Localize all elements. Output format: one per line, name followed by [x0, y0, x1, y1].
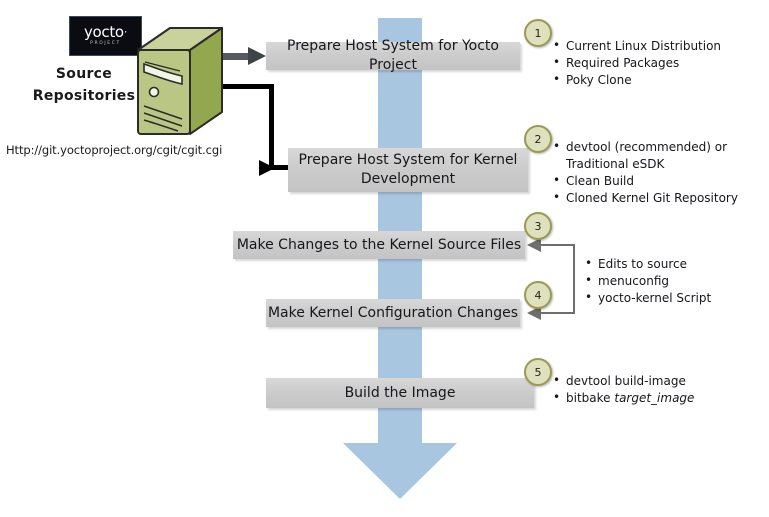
list-item: yocto-kernel Script: [585, 290, 765, 307]
yocto-logo-wordmark: yocto·: [84, 25, 127, 40]
list-item: Cloned Kernel Git Repository: [553, 190, 765, 207]
connector-bracket-to-step4: [540, 312, 575, 314]
list-item: Poky Clone: [553, 72, 765, 89]
process-box-step5-label: Build the Image: [345, 384, 456, 403]
connector-bracket-vertical: [573, 245, 575, 313]
bitbake-command-target: target_image: [614, 391, 694, 405]
list-item: bitbake target_image: [553, 390, 765, 407]
step2-bullet-list: devtool (recommended) or Traditional eSD…: [553, 139, 765, 207]
yocto-logo-text: yocto: [84, 23, 124, 41]
process-box-step3[interactable]: Make Changes to the Kernel Source Files: [233, 231, 525, 259]
step-badge-2: 2: [524, 125, 552, 153]
list-item: Edits to source: [585, 256, 765, 273]
step5-bullet-list: devtool build-image bitbake target_image: [553, 373, 765, 407]
list-item: Clean Build: [553, 173, 765, 190]
yocto-logo-dot: ·: [124, 25, 127, 38]
process-box-step4-label: Make Kernel Configuration Changes: [268, 304, 518, 323]
yocto-logo-subtext: PROJECT: [90, 40, 121, 47]
step-badge-1: 1: [524, 19, 552, 47]
connector-bracket-to-step3: [540, 244, 575, 246]
source-repositories-label-line1: Source: [24, 63, 144, 85]
list-item: devtool (recommended) or Traditional eSD…: [553, 139, 765, 173]
list-item: menuconfig: [585, 273, 765, 290]
process-box-step1-label: Prepare Host System for Yocto Project: [266, 37, 520, 75]
process-box-step2-label: Prepare Host System for Kernel Developme…: [299, 151, 518, 189]
bitbake-command-prefix: bitbake: [566, 391, 614, 405]
step3-bullet-list: Edits to source menuconfig yocto-kernel …: [585, 256, 765, 307]
source-repositories-url: Http://git.yoctoproject.org/cgit/cgit.cg…: [6, 143, 222, 157]
process-box-step5[interactable]: Build the Image: [266, 378, 534, 408]
connector-server-to-step2-vertical: [269, 84, 274, 170]
connector-server-to-step2-arrowhead: [259, 160, 275, 176]
list-item: Current Linux Distribution: [553, 38, 765, 55]
list-item: devtool build-image: [553, 373, 765, 390]
process-box-step3-label: Make Changes to the Kernel Source Files: [237, 236, 521, 255]
source-repositories-label-line2: Repositories: [24, 85, 144, 107]
connector-bracket-step3-arrowhead: [527, 238, 541, 252]
step1-bullet-list: Current Linux Distribution Required Pack…: [553, 38, 765, 89]
process-box-step4[interactable]: Make Kernel Configuration Changes: [266, 299, 520, 327]
flow-arrow-head: [343, 443, 457, 499]
list-item: Required Packages: [553, 55, 765, 72]
process-box-step2-label-line2: Development: [361, 171, 455, 187]
step-badge-4: 4: [524, 281, 552, 309]
server-tower-icon: [134, 26, 226, 138]
step-badge-3: 3: [524, 212, 552, 240]
source-repositories-label: Source Repositories: [24, 63, 144, 107]
process-box-step1[interactable]: Prepare Host System for Yocto Project: [266, 42, 520, 70]
process-box-step2[interactable]: Prepare Host System for Kernel Developme…: [288, 148, 528, 192]
step-badge-5: 5: [524, 358, 552, 386]
process-box-step2-label-line1: Prepare Host System for Kernel: [299, 152, 518, 168]
yocto-project-logo: yocto· PROJECT: [69, 16, 142, 56]
connector-server-to-step1-arrowhead: [248, 47, 266, 65]
